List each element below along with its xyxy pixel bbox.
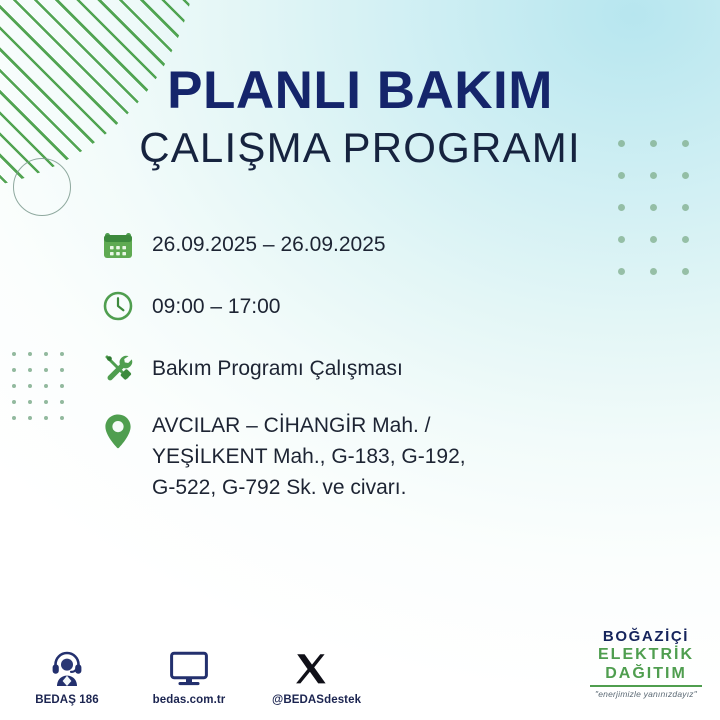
brand-tagline: "enerjimizle yanınızdayız" xyxy=(590,690,702,699)
detail-row-time: 09:00 – 17:00 xyxy=(98,286,658,326)
calendar-icon xyxy=(98,224,138,264)
location-pin-icon xyxy=(98,410,138,452)
detail-location-text: AVCILAR – CİHANGİR Mah. / YEŞİLKENT Mah.… xyxy=(152,410,466,503)
clock-icon xyxy=(98,286,138,326)
headset-support-icon xyxy=(28,647,106,687)
monitor-icon xyxy=(150,647,228,687)
brand-line-bogazici: BOĞAZİÇİ xyxy=(590,629,702,644)
detail-time-text: 09:00 – 17:00 xyxy=(152,286,280,322)
brand-line-elektrik: ELEKTRİK xyxy=(590,647,702,663)
page-subtitle: ÇALIŞMA PROGRAMI xyxy=(0,124,720,171)
footer-item-website[interactable]: bedas.com.tr xyxy=(150,647,228,706)
page-title: PLANLI BAKIM xyxy=(0,64,720,118)
footer-item-social[interactable]: @BEDASdestek xyxy=(272,647,350,706)
x-twitter-icon xyxy=(272,647,350,687)
detail-date-text: 26.09.2025 – 26.09.2025 xyxy=(152,224,386,260)
maintenance-details: 26.09.2025 – 26.09.2025 09:00 – 17:00 xyxy=(98,224,658,503)
brand-line-dagitim: DAĞITIM xyxy=(590,666,702,682)
footer-label-social: @BEDASdestek xyxy=(272,694,350,706)
poster-heading-block: PLANLI BAKIM ÇALIŞMA PROGRAMI xyxy=(0,64,720,171)
detail-worktype-text: Bakım Programı Çalışması xyxy=(152,348,403,384)
tools-icon xyxy=(98,348,138,388)
detail-row-location: AVCILAR – CİHANGİR Mah. / YEŞİLKENT Mah.… xyxy=(98,410,658,503)
detail-row-date: 26.09.2025 – 26.09.2025 xyxy=(98,224,658,264)
dot-grid-left-decoration xyxy=(12,352,68,424)
brand-underline xyxy=(590,685,702,687)
footer-item-call-center[interactable]: BEDAŞ 186 xyxy=(28,647,106,706)
footer-label-website: bedas.com.tr xyxy=(150,694,228,706)
bedas-brand-logo: BOĞAZİÇİ ELEKTRİK DAĞITIM "enerjimizle y… xyxy=(590,629,702,698)
detail-row-worktype: Bakım Programı Çalışması xyxy=(98,348,658,388)
footer-contact-strip: BEDAŞ 186 bedas.com.tr @BEDASdestek xyxy=(28,647,350,706)
planned-maintenance-poster: PLANLI BAKIM ÇALIŞMA PROGRAMI xyxy=(0,0,720,720)
footer-label-call-center: BEDAŞ 186 xyxy=(28,694,106,706)
